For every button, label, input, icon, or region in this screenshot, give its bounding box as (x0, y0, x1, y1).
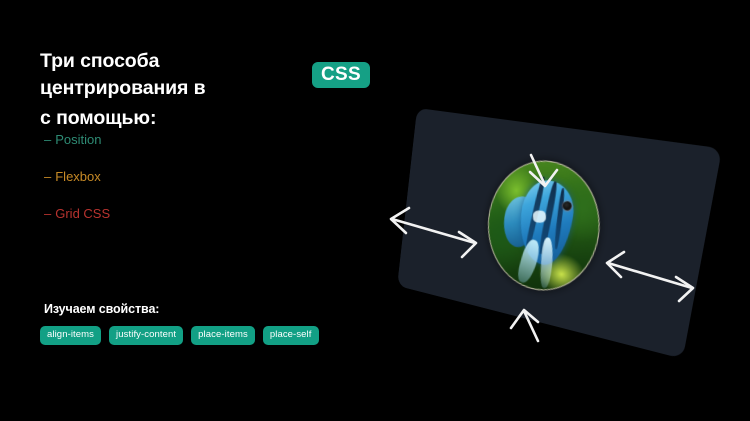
angelfish-stripe (554, 188, 566, 250)
centering-methods-list: –Position –Flexbox –Grid CSS (44, 133, 344, 244)
bullet-dash: – (44, 132, 51, 147)
css-badge: CSS (312, 62, 370, 88)
bullet-dash: – (44, 169, 51, 184)
method-item-position: –Position (44, 133, 344, 146)
title-line-1: Три способа центрирования в CSS (40, 48, 370, 102)
bullet-dash: – (44, 206, 51, 221)
property-pill-justify-content: justify-content (109, 326, 183, 345)
title-line-2: с помощью: (40, 105, 370, 132)
method-label: Position (55, 132, 101, 147)
slide-canvas: Три способа центрирования в CSS с помощь… (0, 0, 750, 421)
fish-image-circle (481, 153, 610, 302)
properties-block: Изучаем свойства: align-items justify-co… (40, 302, 360, 345)
angelfish-stripe (538, 181, 559, 255)
slide-title: Три способа центрирования в CSS с помощь… (40, 48, 370, 132)
properties-pill-row: align-items justify-content place-items … (40, 326, 360, 345)
method-item-flexbox: –Flexbox (44, 170, 344, 183)
method-label: Flexbox (55, 169, 101, 184)
property-pill-align-items: align-items (40, 326, 101, 345)
angelfish-highlight (533, 210, 547, 222)
perspective-card (397, 108, 722, 359)
title-text-before-badge: Три способа центрирования в (40, 48, 305, 102)
illustration-scene (355, 95, 735, 395)
left-content-column: Три способа центрирования в CSS с помощь… (40, 48, 370, 132)
angelfish-eye (562, 200, 572, 211)
property-pill-place-self: place-self (263, 326, 319, 345)
property-pill-place-items: place-items (191, 326, 255, 345)
method-item-grid-css: –Grid CSS (44, 207, 344, 220)
method-label: Grid CSS (55, 206, 110, 221)
properties-heading: Изучаем свойства: (44, 302, 360, 316)
